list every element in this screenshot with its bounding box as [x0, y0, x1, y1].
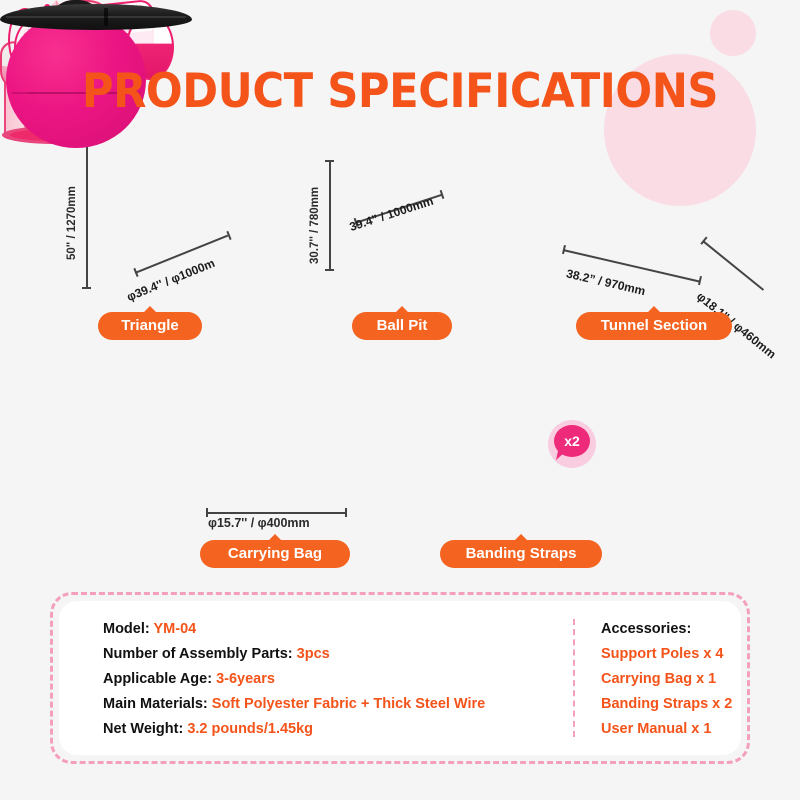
label-ball-pit: Ball Pit	[352, 312, 452, 340]
spec-label: Net Weight:	[103, 721, 183, 737]
spec-row: Net Weight: 3.2 pounds/1.45kg	[103, 717, 573, 742]
spec-value: 3pcs	[297, 646, 330, 662]
accessory-item: Carrying Bag x 1	[601, 667, 741, 692]
decorative-circle-small	[710, 10, 756, 56]
ball-pit-height-cap-top	[325, 160, 334, 162]
triangle-height-label: 50" / 1270mm	[66, 186, 78, 260]
triangle-width-cap-right	[226, 231, 231, 240]
accessories-list: Accessories: Support Poles x 4 Carrying …	[601, 617, 741, 739]
label-carrying-bag: Carrying Bag	[200, 540, 350, 568]
accessory-item: Support Poles x 4	[601, 642, 741, 667]
specifications-list: Model: YM-04 Number of Assembly Parts: 3…	[103, 617, 573, 739]
banding-straps-illustration	[0, 0, 192, 34]
spec-row: Applicable Age: 3-6years	[103, 667, 573, 692]
spec-row: Model: YM-04	[103, 617, 573, 642]
accessory-item: User Manual x 1	[601, 717, 741, 742]
spec-label: Model:	[103, 621, 150, 637]
bag-width-label: φ15.7'' / φ400mm	[208, 516, 310, 530]
label-triangle: Triangle	[98, 312, 202, 340]
spec-row: Number of Assembly Parts: 3pcs	[103, 642, 573, 667]
quantity-badge-x2: x2	[548, 420, 596, 468]
accessories-heading: Accessories:	[601, 617, 741, 642]
ball-pit-height-cap-bottom	[325, 269, 334, 271]
triangle-height-cap-bottom	[82, 287, 91, 289]
tunnel-length-label: 38.2” / 970mm	[565, 266, 647, 298]
spec-value: YM-04	[154, 621, 197, 637]
triangle-width-label: φ39.4'' / φ1000m	[125, 256, 217, 304]
spec-label: Main Materials:	[103, 696, 208, 712]
page-title: PRODUCT SPECIFICATIONS	[32, 64, 768, 119]
triangle-height-line	[86, 142, 88, 288]
specifications-panel: Model: YM-04 Number of Assembly Parts: 3…	[50, 592, 750, 764]
accessory-item: Banding Straps x 2	[601, 692, 741, 717]
spec-label: Applicable Age:	[103, 671, 212, 687]
spec-value: 3-6years	[216, 671, 275, 687]
tunnel-diameter-line	[703, 240, 765, 290]
ball-pit-width-cap-right	[440, 190, 444, 199]
product-banding-straps: x2 Banding Straps	[0, 0, 192, 34]
spec-value: 3.2 pounds/1.45kg	[187, 721, 313, 737]
spec-divider	[573, 619, 575, 737]
ball-pit-width-label: 39.4” / 1000mm	[348, 194, 435, 234]
label-tunnel-section: Tunnel Section	[576, 312, 732, 340]
badge-bubble-label: x2	[554, 425, 590, 457]
label-banding-straps: Banding Straps	[440, 540, 602, 568]
ball-pit-height-line	[329, 160, 331, 270]
strap-buckle	[104, 8, 108, 26]
strap-highlight	[6, 16, 186, 18]
spec-value: Soft Polyester Fabric + Thick Steel Wire	[212, 696, 485, 712]
ball-pit-height-label: 30.7'' / 780mm	[309, 187, 321, 264]
tunnel-length-cap-right	[698, 276, 701, 285]
bag-width-line	[206, 512, 346, 514]
spec-row: Main Materials: Soft Polyester Fabric + …	[103, 692, 573, 717]
spec-label: Number of Assembly Parts:	[103, 646, 293, 662]
bag-width-cap-right	[345, 508, 347, 517]
